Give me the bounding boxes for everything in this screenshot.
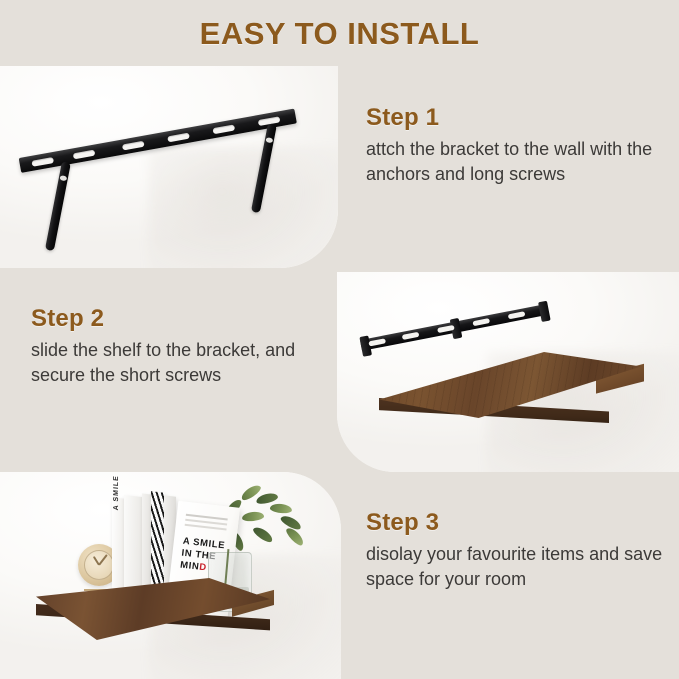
- plant-leaf: [251, 525, 274, 545]
- step-3-body: disolay your favourite items and save sp…: [366, 542, 671, 592]
- step-1-body: attch the bracket to the wall with the a…: [366, 137, 666, 187]
- step-1-image-panel: [0, 66, 338, 268]
- page-title: EASY TO INSTALL: [0, 16, 679, 52]
- bracket-slot: [508, 311, 526, 319]
- book-title-accent: D: [199, 562, 208, 574]
- styled-shelf-illustration: A SMILE IN THE MIND A SMILE IN THE MIND: [0, 472, 341, 679]
- step-2-body: slide the shelf to the bracket, and secu…: [31, 338, 321, 388]
- bracket-slot: [472, 318, 490, 326]
- book-cover-topline: [186, 514, 228, 521]
- step-2-heading: Step 2: [31, 305, 321, 333]
- bracket-slot: [368, 338, 386, 346]
- bracket-slot: [31, 157, 54, 167]
- step-3-text-block: Step 3 disolay your favourite items and …: [366, 509, 671, 592]
- step-3-image-panel: A SMILE IN THE MIND A SMILE IN THE MIND: [0, 472, 341, 679]
- plant-leaf: [242, 511, 265, 522]
- bracket-slot: [167, 132, 190, 142]
- bracket-tab: [538, 301, 551, 322]
- bracket-slot: [212, 124, 235, 134]
- step-1-heading: Step 1: [366, 104, 666, 132]
- infographic-page: EASY TO INSTALL: [0, 0, 679, 679]
- step-2-text-block: Step 2 slide the shelf to the bracket, a…: [31, 305, 321, 388]
- bracket-slot: [402, 332, 420, 340]
- bracket-arm-left: [45, 161, 71, 251]
- shelf-with-bracket-illustration: [351, 304, 667, 454]
- step-1-text-block: Step 1 attch the bracket to the wall wit…: [366, 104, 666, 187]
- bracket-rail: [19, 109, 297, 173]
- step-2-image-panel: [337, 272, 679, 472]
- step-3-heading: Step 3: [366, 509, 671, 537]
- bracket-arm-right: [251, 123, 277, 213]
- bracket-slot: [73, 149, 96, 159]
- wall-mount-bracket-illustration: [14, 102, 326, 252]
- plant-leaf: [270, 503, 293, 514]
- bracket-slot: [122, 140, 145, 150]
- book-spine-title: A SMILE IN THE MIND: [113, 472, 120, 511]
- bracket-rail: [360, 304, 549, 351]
